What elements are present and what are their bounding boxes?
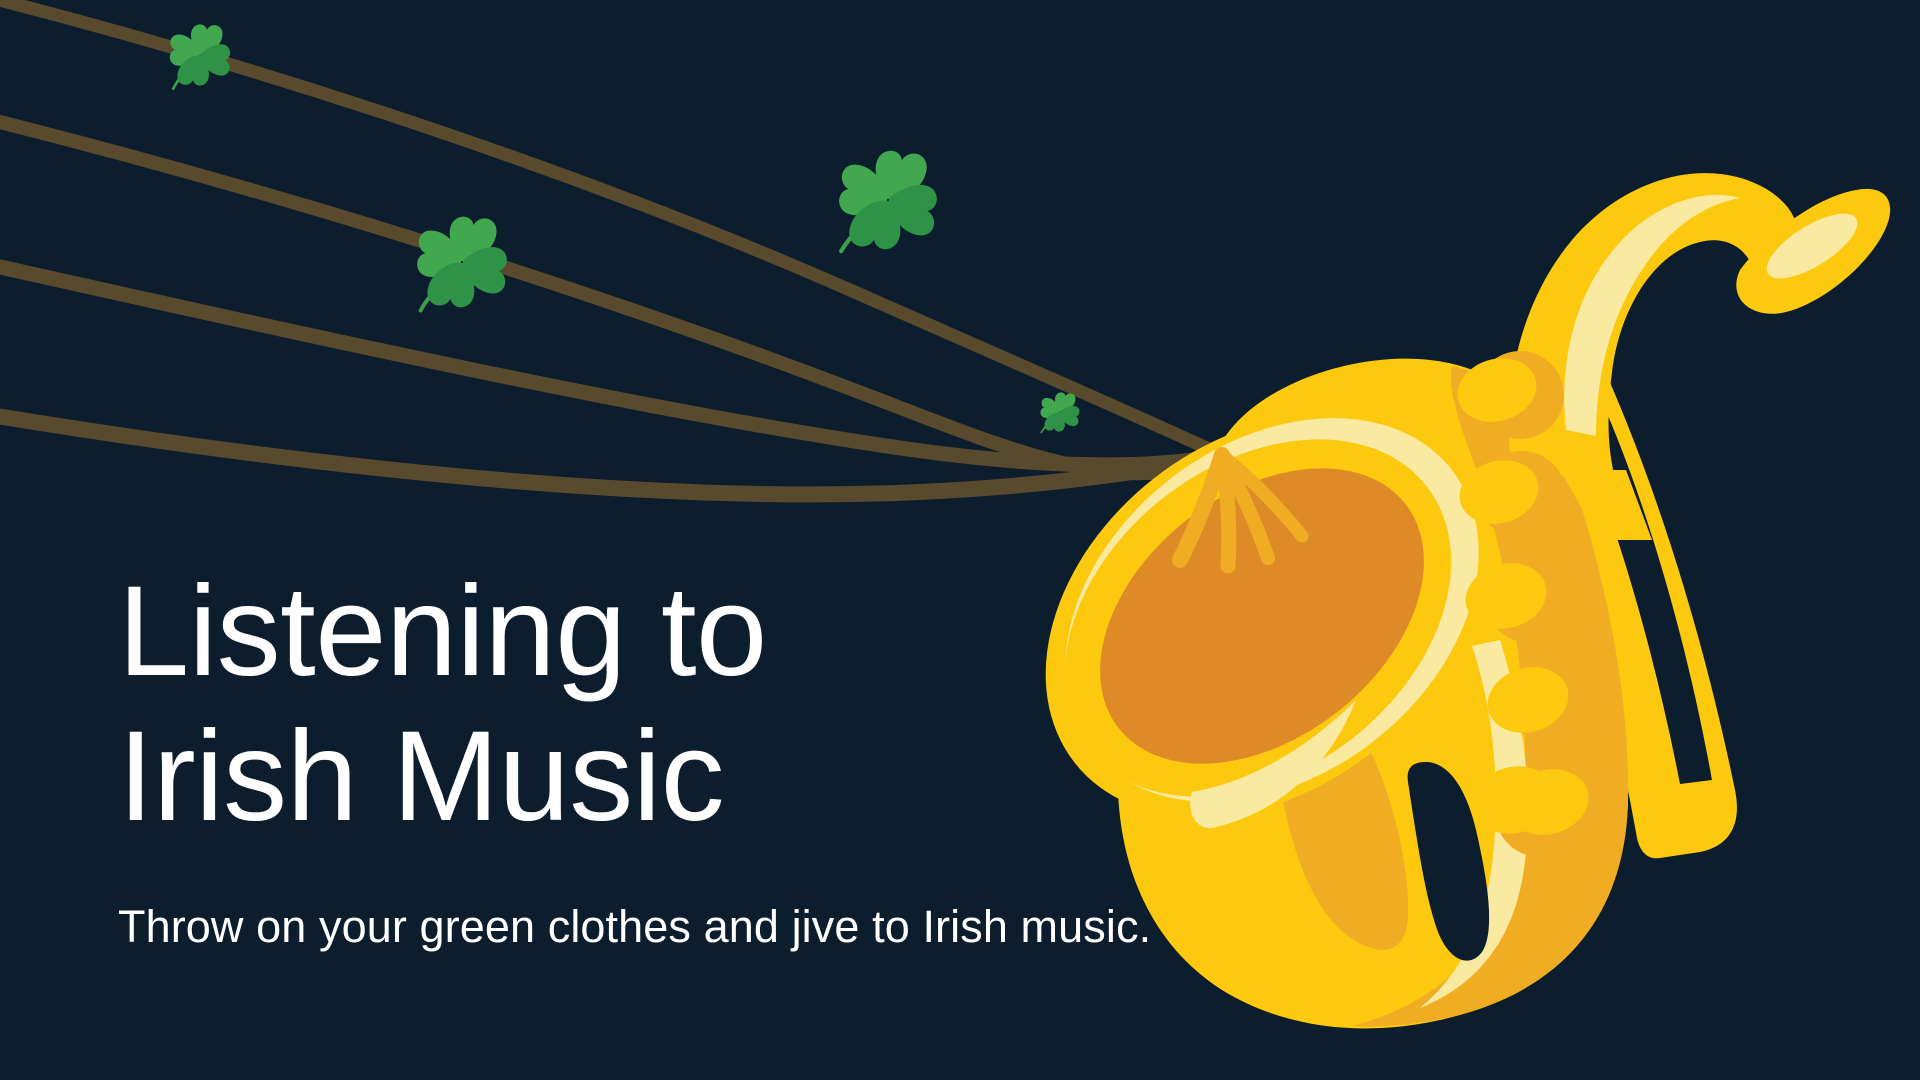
page-title: Listening to Irish Music [118, 560, 1218, 849]
text-block: Listening to Irish Music Throw on your g… [118, 560, 1218, 953]
poster-canvas: Listening to Irish Music Throw on your g… [0, 0, 1920, 1080]
page-subtitle: Throw on your green clothes and jive to … [118, 901, 1218, 953]
